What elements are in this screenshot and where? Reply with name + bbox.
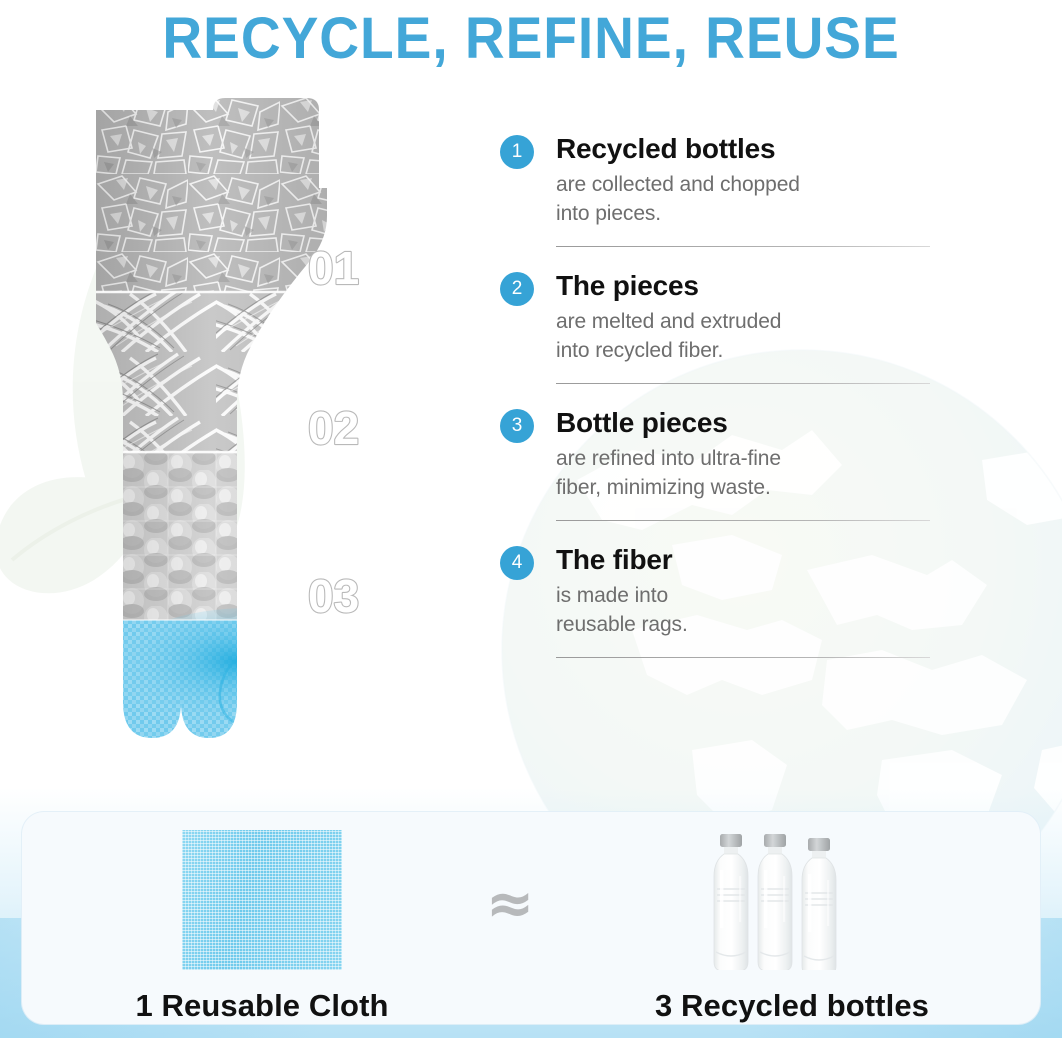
step-body-3: are refined into ultra-fine fiber, minim… <box>556 444 930 502</box>
step-body-4: is made into reusable rags. <box>556 581 930 639</box>
band-number-01: 01 <box>308 242 359 294</box>
page-title: RECYCLE, REFINE, REUSE <box>162 10 899 68</box>
band-number-02: 02 <box>308 402 359 454</box>
step-body-line: are collected and chopped <box>556 170 930 199</box>
cloth-swatch-icon <box>182 830 342 970</box>
steps-list: 1 Recycled bottles are collected and cho… <box>494 132 930 658</box>
bottle-illustration: 01 02 03 04 <box>96 96 426 806</box>
step-divider-4 <box>556 657 930 658</box>
step-body-line: is made into <box>556 581 930 610</box>
step-body-line: are melted and extruded <box>556 307 930 336</box>
comparison-right <box>662 828 922 970</box>
step-divider-3 <box>556 520 930 521</box>
step-divider-2 <box>556 383 930 384</box>
step-body-line: are refined into ultra-fine <box>556 444 930 473</box>
step-badge-3: 3 <box>500 409 534 443</box>
step-badge-2: 2 <box>500 272 534 306</box>
step-item-4: 4 The fiber is made into reusable rags. <box>494 543 930 639</box>
bottle-band-03 <box>96 452 426 620</box>
bottle-band-02 <box>96 292 426 452</box>
step-body-line: into pieces. <box>556 199 930 228</box>
step-title-2: The pieces <box>556 269 930 303</box>
step-badge-4: 4 <box>500 546 534 580</box>
step-item-1: 1 Recycled bottles are collected and cho… <box>494 132 930 228</box>
step-title-1: Recycled bottles <box>556 132 930 166</box>
step-body-line: reusable rags. <box>556 610 930 639</box>
bottle-texture-bands <box>96 96 426 806</box>
infographic-root: RECYCLE, REFINE, REUSE <box>0 0 1062 1038</box>
three-bottles-icon <box>709 828 875 970</box>
step-divider-1 <box>556 246 930 247</box>
step-item-2: 2 The pieces are melted and extruded int… <box>494 269 930 365</box>
step-body-line: fiber, minimizing waste. <box>556 473 930 502</box>
step-badge-1: 1 <box>500 135 534 169</box>
band-number-03: 03 <box>308 570 359 622</box>
comparison-left-label: 1 Reusable Cloth <box>82 988 442 1024</box>
step-title-4: The fiber <box>556 543 930 577</box>
bottle-band-01 <box>96 96 426 292</box>
step-title-3: Bottle pieces <box>556 406 930 440</box>
comparison-right-label: 3 Recycled bottles <box>582 988 1002 1024</box>
step-body-2: are melted and extruded into recycled fi… <box>556 307 930 365</box>
comparison-card: ≈ 1 Reusable Cloth 3 Recycled bottles <box>22 812 1040 1024</box>
comparison-left <box>167 830 357 970</box>
approximately-equal-icon: ≈ <box>470 874 550 932</box>
step-body-1: are collected and chopped into pieces. <box>556 170 930 228</box>
step-body-line: into recycled fiber. <box>556 336 930 365</box>
bottle-band-04 <box>96 608 426 806</box>
header: RECYCLE, REFINE, REUSE <box>0 0 1062 78</box>
step-item-3: 3 Bottle pieces are refined into ultra-f… <box>494 406 930 502</box>
band-number-04: 04 <box>308 706 360 758</box>
